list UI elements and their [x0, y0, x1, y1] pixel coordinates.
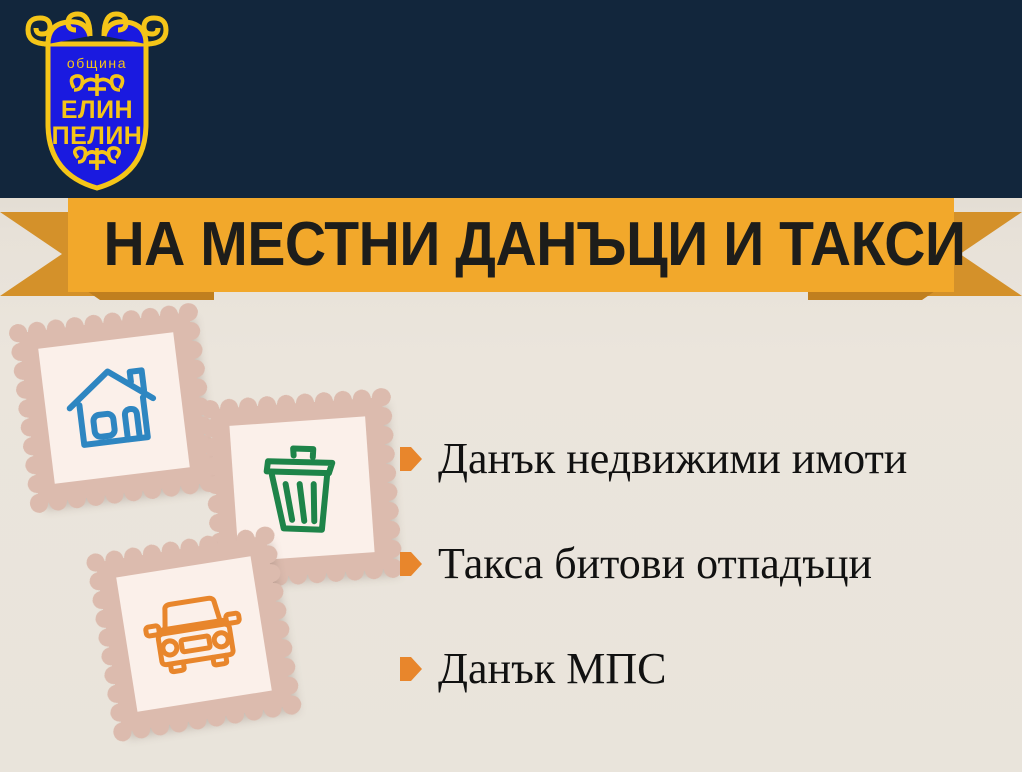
list-item-label: Такса битови отпадъци: [438, 540, 872, 588]
stamp-face-car: [116, 556, 272, 712]
poster-canvas: ПРОВЕРКА И ПЛАЩАНЕ НА ЗАДЪЛЖЕНИЯ община: [0, 0, 1022, 772]
stamp-card-house: [18, 312, 210, 504]
ribbon-label: НА МЕСТНИ ДАНЪЦИ И ТАКСИ: [103, 196, 918, 292]
service-list: Данък недвижими имоти Такса битови отпад…: [400, 424, 1010, 739]
list-item[interactable]: Такса битови отпадъци: [400, 529, 1010, 599]
list-item[interactable]: Данък недвижими имоти: [400, 424, 1010, 494]
house-icon: [61, 359, 167, 456]
trash-bin-icon: [257, 440, 347, 538]
bullet-arrow-icon: [400, 552, 422, 576]
municipality-logo: община ЕЛИН ПЕЛИН: [18, 6, 176, 192]
logo-name-line-1: ЕЛИН: [61, 96, 133, 124]
logo-name-line-2: ПЕЛИН: [52, 122, 143, 150]
list-item[interactable]: Данък МПС: [400, 634, 1010, 704]
list-item-label: Данък МПС: [438, 645, 666, 693]
list-item-label: Данък недвижими имоти: [438, 435, 907, 483]
stamp-card-car: [96, 536, 293, 733]
car-icon: [139, 589, 250, 680]
bullet-arrow-icon: [400, 657, 422, 681]
stamp-face-house: [38, 332, 190, 484]
bullet-arrow-icon: [400, 447, 422, 471]
ribbon-banner: НА МЕСТНИ ДАНЪЦИ И ТАКСИ: [0, 196, 1022, 308]
logo-top-word: община: [67, 55, 127, 71]
